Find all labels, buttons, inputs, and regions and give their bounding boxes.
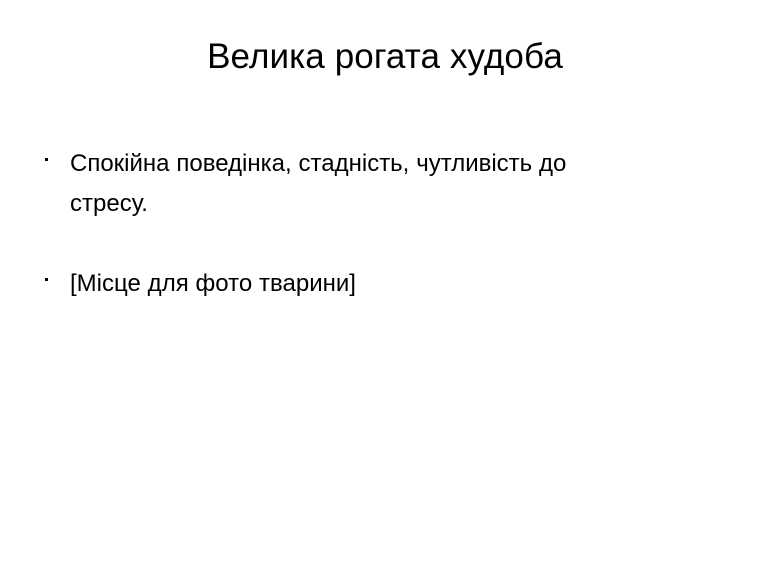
list-item-label: Спокійна поведінка, стадність, чутливіст… <box>70 144 580 224</box>
square-dot-bullet-icon <box>45 158 48 161</box>
list-item[interactable]: [Місце для фото тварини] <box>40 264 640 304</box>
bullet-list: Спокійна поведінка, стадність, чутливіст… <box>40 144 640 304</box>
slide-canvas: Велика рогата худоба Спокійна поведінка,… <box>0 0 770 577</box>
square-dot-bullet-icon <box>45 278 48 281</box>
page-title: Велика рогата худоба <box>0 36 770 78</box>
list-item[interactable]: Спокійна поведінка, стадність, чутливіст… <box>40 144 640 224</box>
list-item-label: [Місце для фото тварини] <box>70 264 580 304</box>
